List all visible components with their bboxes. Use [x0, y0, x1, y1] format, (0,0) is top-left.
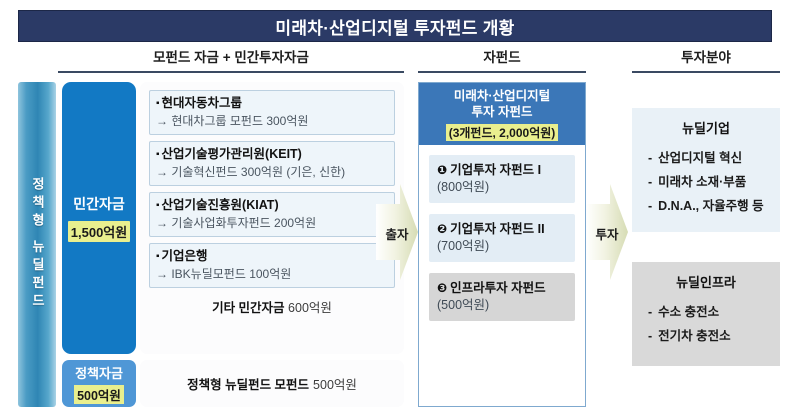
sub-fund-panel: 미래차·산업디지털 투자 자펀드 (3개펀드, 2,000억원) ❶기업투자 자… [418, 82, 586, 407]
investment-area-item: -전기차 충전소 [644, 324, 768, 348]
list-item: ▪산업기술평가관리원(KEIT) → 기술혁신펀드 300억원 (기은, 신한) [149, 141, 395, 186]
square-bullet-icon: ▪ [156, 251, 160, 262]
diagram-canvas: 미래차·산업디지털 투자펀드 개황 모펀드 자금 + 민간투자자금 자펀드 투자… [0, 0, 790, 417]
sub-fund-name-text: 기업투자 자펀드 II [450, 222, 544, 236]
investment-arrow: 투자 [584, 178, 630, 286]
policy-capital-description: 정책형 뉴딜펀드 모펀드 500억원 [140, 360, 404, 407]
other-private-capital-amount: 600억원 [288, 301, 332, 315]
investment-area-item: -D.N.A., 자율주행 등 [644, 194, 768, 218]
list-item: ▪현대자동차그룹 → 현대차그룹 모펀드 300억원 [149, 90, 395, 135]
private-investor-list: ▪현대자동차그룹 → 현대차그룹 모펀드 300억원 ▪산업기술평가관리원(KE… [140, 82, 404, 354]
policy-capital-label: 정책자금 [75, 363, 123, 382]
policy-fund-of-funds-amount: 500억원 [313, 374, 357, 393]
column-header-right-label: 투자분야 [632, 48, 780, 68]
investment-area-item-text: 수소 충전소 [658, 305, 719, 319]
sub-fund-header-line2: 투자 자펀드 [472, 104, 533, 120]
investment-area-item-text: 산업디지털 혁신 [658, 151, 742, 165]
list-item: ▪기업은행 → IBK뉴딜모펀드 100억원 [149, 243, 395, 288]
investor-detail: → 현대차그룹 모펀드 300억원 [156, 113, 388, 129]
investment-area-infra: 뉴딜인프라 -수소 충전소 -전기차 충전소 [632, 262, 780, 366]
page-title: 미래차·산업디지털 투자펀드 개황 [18, 10, 772, 42]
square-bullet-icon: ▪ [156, 200, 160, 211]
other-private-capital: 기타 민간자금 600억원 [149, 297, 395, 316]
private-capital-box: 민간자금 1,500억원 [62, 82, 136, 354]
investment-area-item-text: 전기차 충전소 [658, 329, 730, 343]
sub-fund-name-text: 인프라투자 자펀드 [450, 281, 545, 295]
private-capital-group: 민간자금 1,500억원 ▪현대자동차그룹 → 현대차그룹 모펀드 300억원 … [62, 82, 404, 354]
policy-capital-group: 정책자금 500억원 정책형 뉴딜펀드 모펀드 500억원 [62, 360, 404, 407]
investment-area-company-title: 뉴딜기업 [644, 118, 768, 137]
investor-name: ▪산업기술평가관리원(KEIT) [156, 146, 388, 163]
sub-fund-name: ❶기업투자 자펀드 I [437, 162, 567, 178]
column-header-right-rule [632, 71, 780, 73]
investment-area-infra-title: 뉴딜인프라 [644, 272, 768, 291]
column-header-left-label: 모펀드 자금 + 민간투자자금 [58, 48, 404, 68]
sub-fund-name: ❷기업투자 자펀드 II [437, 221, 567, 237]
dash-icon: - [648, 329, 652, 343]
list-item: ▪산업기술진흥원(KIAT) → 기술사업화투자펀드 200억원 [149, 192, 395, 237]
dash-icon: - [648, 199, 652, 213]
policy-capital-amount: 500억원 [74, 385, 124, 404]
list-item: ❶기업투자 자펀드 I (800억원) [429, 155, 575, 203]
sub-fund-list: ❶기업투자 자펀드 I (800억원) ❷기업투자 자펀드 II (700억원)… [419, 145, 585, 332]
investment-area-item-text: 미래차 소재·부품 [658, 175, 746, 189]
other-private-capital-label: 기타 민간자금 [212, 301, 284, 315]
contribution-arrow-label: 출자 [374, 224, 420, 243]
sub-fund-name-text: 기업투자 자펀드 I [450, 163, 541, 177]
sub-fund-amount: (500억원) [437, 297, 567, 313]
investment-area-item: -산업디지털 혁신 [644, 146, 768, 170]
number-one-icon: ❶ [437, 163, 447, 177]
column-header-left: 모펀드 자금 + 민간투자자금 [58, 48, 404, 73]
sub-fund-header-amount: (3개펀드, 2,000억원) [446, 124, 559, 141]
investment-arrow-label: 투자 [584, 224, 630, 243]
investor-name-text: 기업은행 [162, 249, 208, 263]
investor-detail: → 기술혁신펀드 300억원 (기은, 신한) [156, 164, 388, 180]
square-bullet-icon: ▪ [156, 98, 160, 109]
investment-area-item: -수소 충전소 [644, 300, 768, 324]
investor-name-text: 산업기술평가관리원(KEIT) [162, 147, 302, 161]
investor-name-text: 산업기술진흥원(KIAT) [162, 198, 279, 212]
investor-name-text: 현대자동차그룹 [162, 96, 243, 110]
private-capital-label: 민간자금 [73, 194, 125, 214]
column-header-left-rule [58, 71, 404, 73]
policy-capital-box: 정책자금 500억원 [62, 360, 136, 407]
number-two-icon: ❷ [437, 222, 447, 236]
policy-fund-of-funds-label: 정책형 뉴딜펀드 모펀드 [187, 374, 309, 393]
list-item: ❸인프라투자 자펀드 (500억원) [429, 273, 575, 321]
number-three-icon: ❸ [437, 281, 447, 295]
column-header-mid-label: 자펀드 [418, 48, 586, 68]
policy-newdeal-fund-bar: 정책형 뉴딜펀드 [18, 82, 56, 407]
dash-icon: - [648, 151, 652, 165]
sub-fund-amount: (700억원) [437, 238, 567, 254]
policy-newdeal-fund-label: 정책형 뉴딜펀드 [18, 177, 56, 312]
list-item: ❷기업투자 자펀드 II (700억원) [429, 214, 575, 262]
investor-detail: → IBK뉴딜모펀드 100억원 [156, 266, 388, 282]
page-title-text: 미래차·산업디지털 투자펀드 개황 [275, 14, 514, 39]
investor-name: ▪현대자동차그룹 [156, 95, 388, 112]
column-header-right: 투자분야 [632, 48, 780, 73]
column-header-mid: 자펀드 [418, 48, 586, 73]
contribution-arrow: 출자 [374, 178, 420, 286]
investor-detail: → 기술사업화투자펀드 200억원 [156, 215, 388, 231]
sub-fund-name: ❸인프라투자 자펀드 [437, 280, 567, 296]
column-header-mid-rule [418, 71, 586, 73]
square-bullet-icon: ▪ [156, 149, 160, 160]
investment-area-item-text: D.N.A., 자율주행 등 [658, 199, 763, 213]
dash-icon: - [648, 305, 652, 319]
investor-name: ▪산업기술진흥원(KIAT) [156, 197, 388, 214]
sub-fund-amount: (800억원) [437, 179, 567, 195]
sub-fund-header-line1: 미래차·산업디지털 [454, 88, 550, 104]
investment-area-company: 뉴딜기업 -산업디지털 혁신 -미래차 소재·부품 -D.N.A., 자율주행 … [632, 108, 780, 232]
investor-name: ▪기업은행 [156, 248, 388, 265]
investment-area-item: -미래차 소재·부품 [644, 170, 768, 194]
sub-fund-header: 미래차·산업디지털 투자 자펀드 (3개펀드, 2,000억원) [419, 83, 585, 145]
dash-icon: - [648, 175, 652, 189]
private-capital-amount: 1,500억원 [68, 221, 130, 242]
